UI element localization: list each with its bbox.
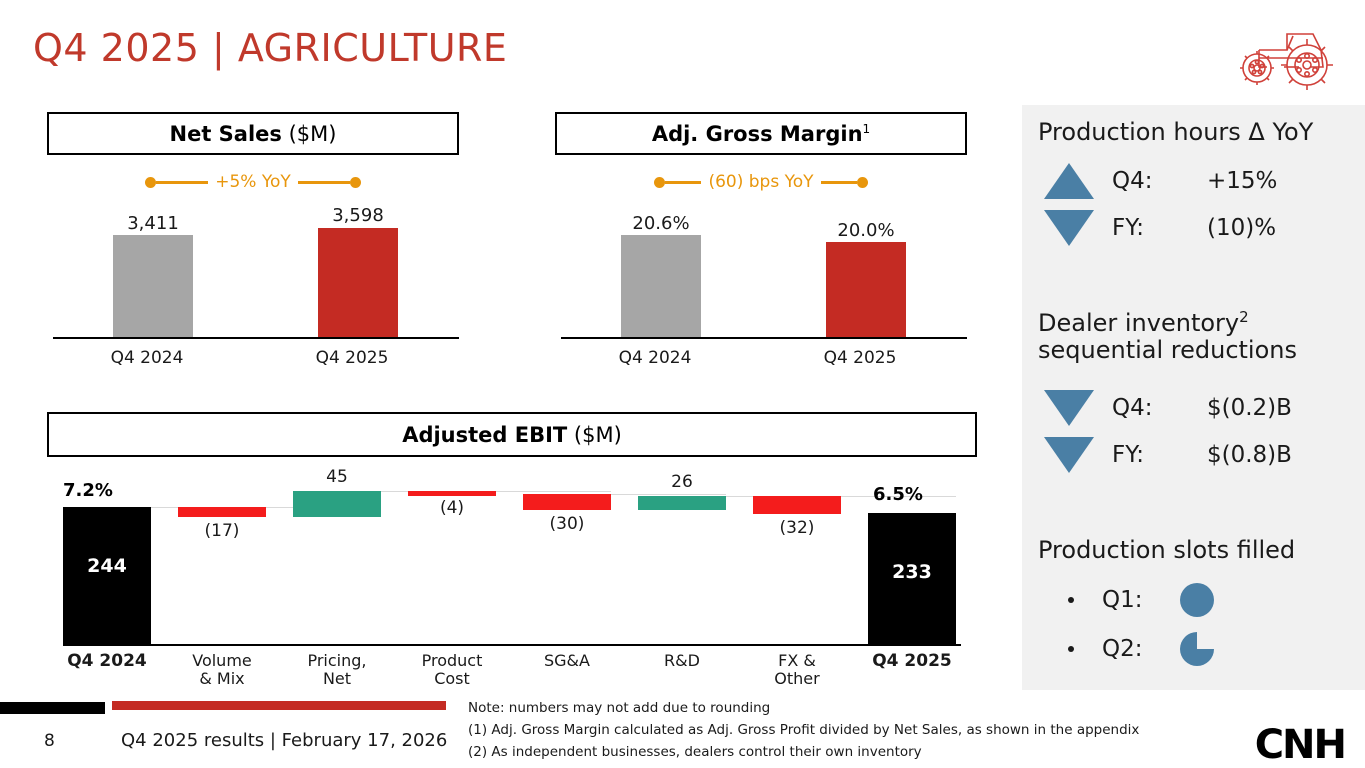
sidebar-section2-heading-line2: sequential reductions — [1038, 336, 1297, 364]
waterfall-connector — [496, 491, 611, 492]
waterfall-category-5: R&D — [616, 652, 748, 670]
net-sales-title-box: Net Sales ($M) — [47, 112, 459, 155]
waterfall-value-6: (32) — [733, 518, 861, 538]
tractor-icon — [1237, 20, 1341, 90]
sidebar-row-slots-q1: Q1: — [1068, 583, 1214, 617]
sidebar-panel: Production hours Δ YoY Q4: +15% FY: (10)… — [1022, 105, 1365, 690]
bullet-icon — [1068, 646, 1074, 652]
yoy-line-left — [156, 181, 208, 184]
gross-margin-title-bold: Adj. Gross Margin — [652, 122, 863, 146]
net-sales-category-0: Q4 2024 — [67, 348, 227, 368]
sidebar-row-value: +15% — [1207, 168, 1277, 194]
ebit-title-bold: Adjusted EBIT — [402, 423, 567, 447]
yoy-line-right — [298, 181, 350, 184]
net-sales-title-bold: Net Sales — [170, 122, 282, 146]
waterfall-value-5: 26 — [618, 472, 746, 492]
sidebar-row-dealer-inventory-q4: Q4: $(0.2)B — [1044, 390, 1292, 426]
yoy-dot-right-icon — [857, 177, 868, 188]
gross-margin-category-0: Q4 2024 — [575, 348, 735, 368]
yoy-line-left — [665, 181, 701, 184]
waterfall-value-1: (17) — [158, 521, 286, 541]
page-title: Q4 2025 | AGRICULTURE — [33, 26, 507, 70]
ebit-plot-area: 244(17)45(4)(30)26(32)233 — [47, 470, 977, 645]
waterfall-value-4: (30) — [503, 514, 631, 534]
waterfall-category-4: SG&A — [501, 652, 633, 670]
sidebar-row-value: $(0.8)B — [1207, 442, 1292, 468]
footer-accent-bar-red — [112, 701, 446, 710]
circle-full-icon — [1180, 583, 1214, 617]
waterfall-bar-3 — [408, 491, 496, 496]
gross-margin-yoy-annotation: (60) bps YoY — [555, 172, 967, 192]
sidebar-section2-heading: Dealer inventory2 sequential reductions — [1038, 309, 1363, 364]
waterfall-connector — [611, 494, 726, 495]
yoy-line-right — [821, 181, 857, 184]
sidebar-row-label: FY: — [1112, 442, 1207, 468]
net-sales-bar-1 — [318, 228, 398, 338]
waterfall-bar-2 — [293, 491, 381, 516]
yoy-dot-left-icon — [654, 177, 665, 188]
net-sales-value-1: 3,598 — [332, 205, 384, 226]
footer-accent-bar-black — [0, 702, 105, 714]
net-sales-title-unit: ($M) — [282, 122, 337, 146]
gross-margin-bar-1 — [826, 242, 906, 338]
sidebar-row-label: Q4: — [1112, 168, 1207, 194]
footnotes: Note: numbers may not add due to roundin… — [468, 698, 1168, 764]
triangle-down-icon — [1044, 390, 1094, 426]
circle-three-quarter-icon — [1180, 632, 1214, 666]
waterfall-category-3: ProductCost — [386, 652, 518, 689]
ebit-title-unit: ($M) — [567, 423, 622, 447]
waterfall-value-3: (4) — [388, 498, 516, 518]
gross-margin-value-0: 20.6% — [632, 213, 689, 234]
net-sales-yoy-annotation: +5% YoY — [47, 172, 459, 192]
waterfall-category-6: FX &Other — [731, 652, 863, 689]
ebit-title-box: Adjusted EBIT ($M) — [47, 412, 977, 457]
triangle-down-icon — [1044, 437, 1094, 473]
net-sales-axis — [53, 337, 459, 339]
sidebar-row-label: Q4: — [1112, 395, 1207, 421]
net-sales-category-1: Q4 2025 — [272, 348, 432, 368]
waterfall-bar-5 — [638, 496, 726, 511]
sidebar-row-slots-q2: Q2: — [1068, 632, 1214, 666]
footer-text: Q4 2025 results | February 17, 2026 — [121, 730, 447, 751]
gross-margin-axis — [561, 337, 967, 339]
yoy-dot-right-icon — [350, 177, 361, 188]
page-number: 8 — [44, 731, 55, 751]
net-sales-chart: 3,411 3,598 Q4 2024 Q4 2025 — [47, 198, 465, 373]
gross-margin-bar-0 — [621, 235, 701, 338]
sidebar-row-production-hours-q4: Q4: +15% — [1044, 163, 1277, 199]
gross-margin-chart: 20.6% 20.0% Q4 2024 Q4 2025 — [555, 198, 973, 373]
ebit-margin-end: 6.5% — [873, 484, 923, 505]
triangle-up-icon — [1044, 163, 1094, 199]
waterfall-value-0: 244 — [63, 555, 151, 577]
sidebar-section3-heading: Production slots filled — [1038, 537, 1363, 564]
footnote-1: (1) Adj. Gross Margin calculated as Adj.… — [468, 720, 1168, 742]
gross-margin-yoy-label: (60) bps YoY — [701, 172, 820, 192]
gross-margin-category-1: Q4 2025 — [780, 348, 940, 368]
sidebar-row-label: FY: — [1112, 215, 1207, 241]
triangle-down-icon — [1044, 210, 1094, 246]
yoy-dot-left-icon — [145, 177, 156, 188]
gross-margin-title-footnote-ref: 1 — [863, 122, 871, 136]
gross-margin-value-1: 20.0% — [837, 220, 894, 241]
footnote-note: Note: numbers may not add due to roundin… — [468, 698, 1168, 720]
waterfall-category-0: Q4 2024 — [41, 652, 173, 672]
net-sales-yoy-label: +5% YoY — [208, 172, 298, 192]
sidebar-section1-heading: Production hours Δ YoY — [1038, 119, 1363, 146]
waterfall-bar-1 — [178, 507, 266, 517]
sidebar-row-label: Q1: — [1102, 587, 1180, 613]
cnh-logo: CNH — [1255, 722, 1345, 768]
sidebar-row-dealer-inventory-fy: FY: $(0.8)B — [1044, 437, 1292, 473]
waterfall-value-2: 45 — [273, 467, 401, 487]
sidebar-section2-footnote-ref: 2 — [1239, 308, 1249, 326]
net-sales-bar-0 — [113, 235, 193, 338]
sidebar-row-production-hours-fy: FY: (10)% — [1044, 210, 1276, 246]
bullet-icon — [1068, 597, 1074, 603]
ebit-waterfall-chart: 244(17)45(4)(30)26(32)233 7.2% 6.5% Q4 2… — [47, 470, 977, 695]
sidebar-row-value: (10)% — [1207, 215, 1276, 241]
gross-margin-title-box: Adj. Gross Margin1 — [555, 112, 967, 155]
waterfall-category-2: Pricing,Net — [271, 652, 403, 689]
ebit-margin-start: 7.2% — [63, 480, 113, 501]
sidebar-section2-heading-line1: Dealer inventory — [1038, 309, 1239, 337]
waterfall-category-7: Q4 2025 — [846, 652, 978, 672]
waterfall-category-1: Volume& Mix — [156, 652, 288, 689]
ebit-axis — [63, 644, 961, 646]
net-sales-value-0: 3,411 — [127, 213, 179, 234]
sidebar-row-value: $(0.2)B — [1207, 395, 1292, 421]
waterfall-bar-6 — [753, 496, 841, 514]
sidebar-row-label: Q2: — [1102, 636, 1180, 662]
waterfall-value-7: 233 — [868, 561, 956, 583]
footnote-2: (2) As independent businesses, dealers c… — [468, 742, 1168, 764]
waterfall-bar-4 — [523, 494, 611, 511]
